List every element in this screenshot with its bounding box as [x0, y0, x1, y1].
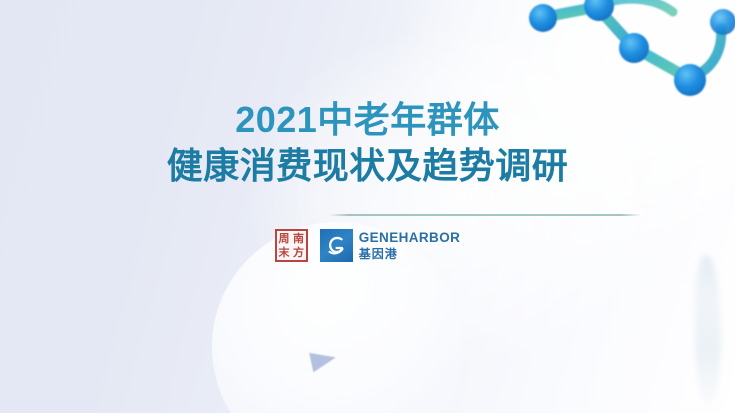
- seal-glyph-3: 末: [277, 246, 292, 261]
- seal-glyph-2: 南: [291, 231, 306, 246]
- geneharbor-text: GENEHARBOR 基因港: [359, 231, 461, 260]
- geneharbor-name-cn: 基因港: [359, 248, 461, 260]
- geneharbor-logo: GENEHARBOR 基因港: [320, 229, 461, 262]
- red-seal-logo: 周 南 末 方: [275, 229, 308, 262]
- seal-glyph-1: 周: [277, 231, 292, 246]
- slide-title-block: 2021中老年群体 健康消费现状及趋势调研: [0, 98, 735, 188]
- slide-title-line-1: 2021中老年群体: [0, 98, 735, 142]
- presentation-slide: 2021中老年群体 健康消费现状及趋势调研 周 南 末 方 GENEHARBOR…: [0, 0, 735, 413]
- geneharbor-name-en: GENEHARBOR: [359, 231, 461, 245]
- slide-title-line-2: 健康消费现状及趋势调研: [0, 144, 735, 188]
- right-edge-watermark: [695, 255, 721, 405]
- title-divider: [330, 214, 640, 216]
- geneharbor-mark-icon: [320, 229, 353, 262]
- logo-row: 周 南 末 方 GENEHARBOR 基因港: [0, 229, 735, 262]
- seal-glyph-4: 方: [291, 246, 306, 261]
